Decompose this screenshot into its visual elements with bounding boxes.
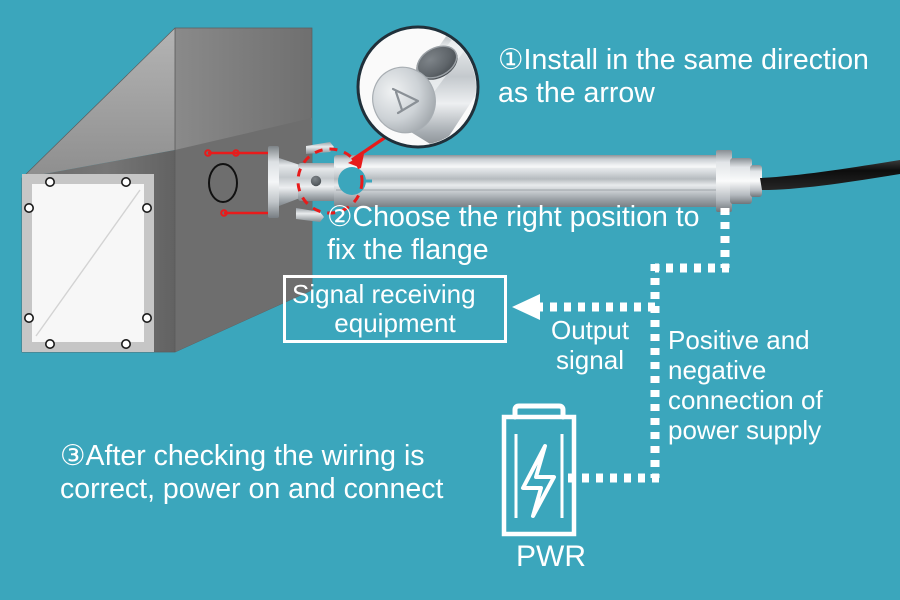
step-2-text: ②Choose the right position to fix the fl… [327, 201, 747, 267]
step-3-text: ③After checking the wiring is correct, p… [60, 440, 530, 506]
installation-diagram: ①Install in the same direction as the ar… [0, 0, 900, 600]
signal-box-line-2: equipment [292, 309, 498, 338]
cable-gland-nut [730, 158, 752, 204]
probe-set-screw-hole [311, 176, 321, 186]
arrow-marking-detail [358, 27, 500, 150]
sensor-cable [760, 160, 900, 190]
cable-gland-tip [750, 165, 762, 197]
probe-tube [334, 155, 720, 207]
probe-flange-neck [279, 158, 300, 206]
step-1-text: ①Install in the same direction as the ar… [498, 44, 898, 110]
probe-flange-plate [268, 146, 279, 218]
output-signal-label: Output signal [524, 315, 656, 375]
pwr-label: PWR [496, 540, 606, 575]
signal-box-line-1: Signal receiving [292, 280, 498, 309]
signal-receiving-equipment-box: Signal receiving equipment [283, 275, 507, 343]
duct-end-panel [22, 174, 154, 352]
power-connection-label: Positive and negative connection of powe… [668, 325, 898, 446]
